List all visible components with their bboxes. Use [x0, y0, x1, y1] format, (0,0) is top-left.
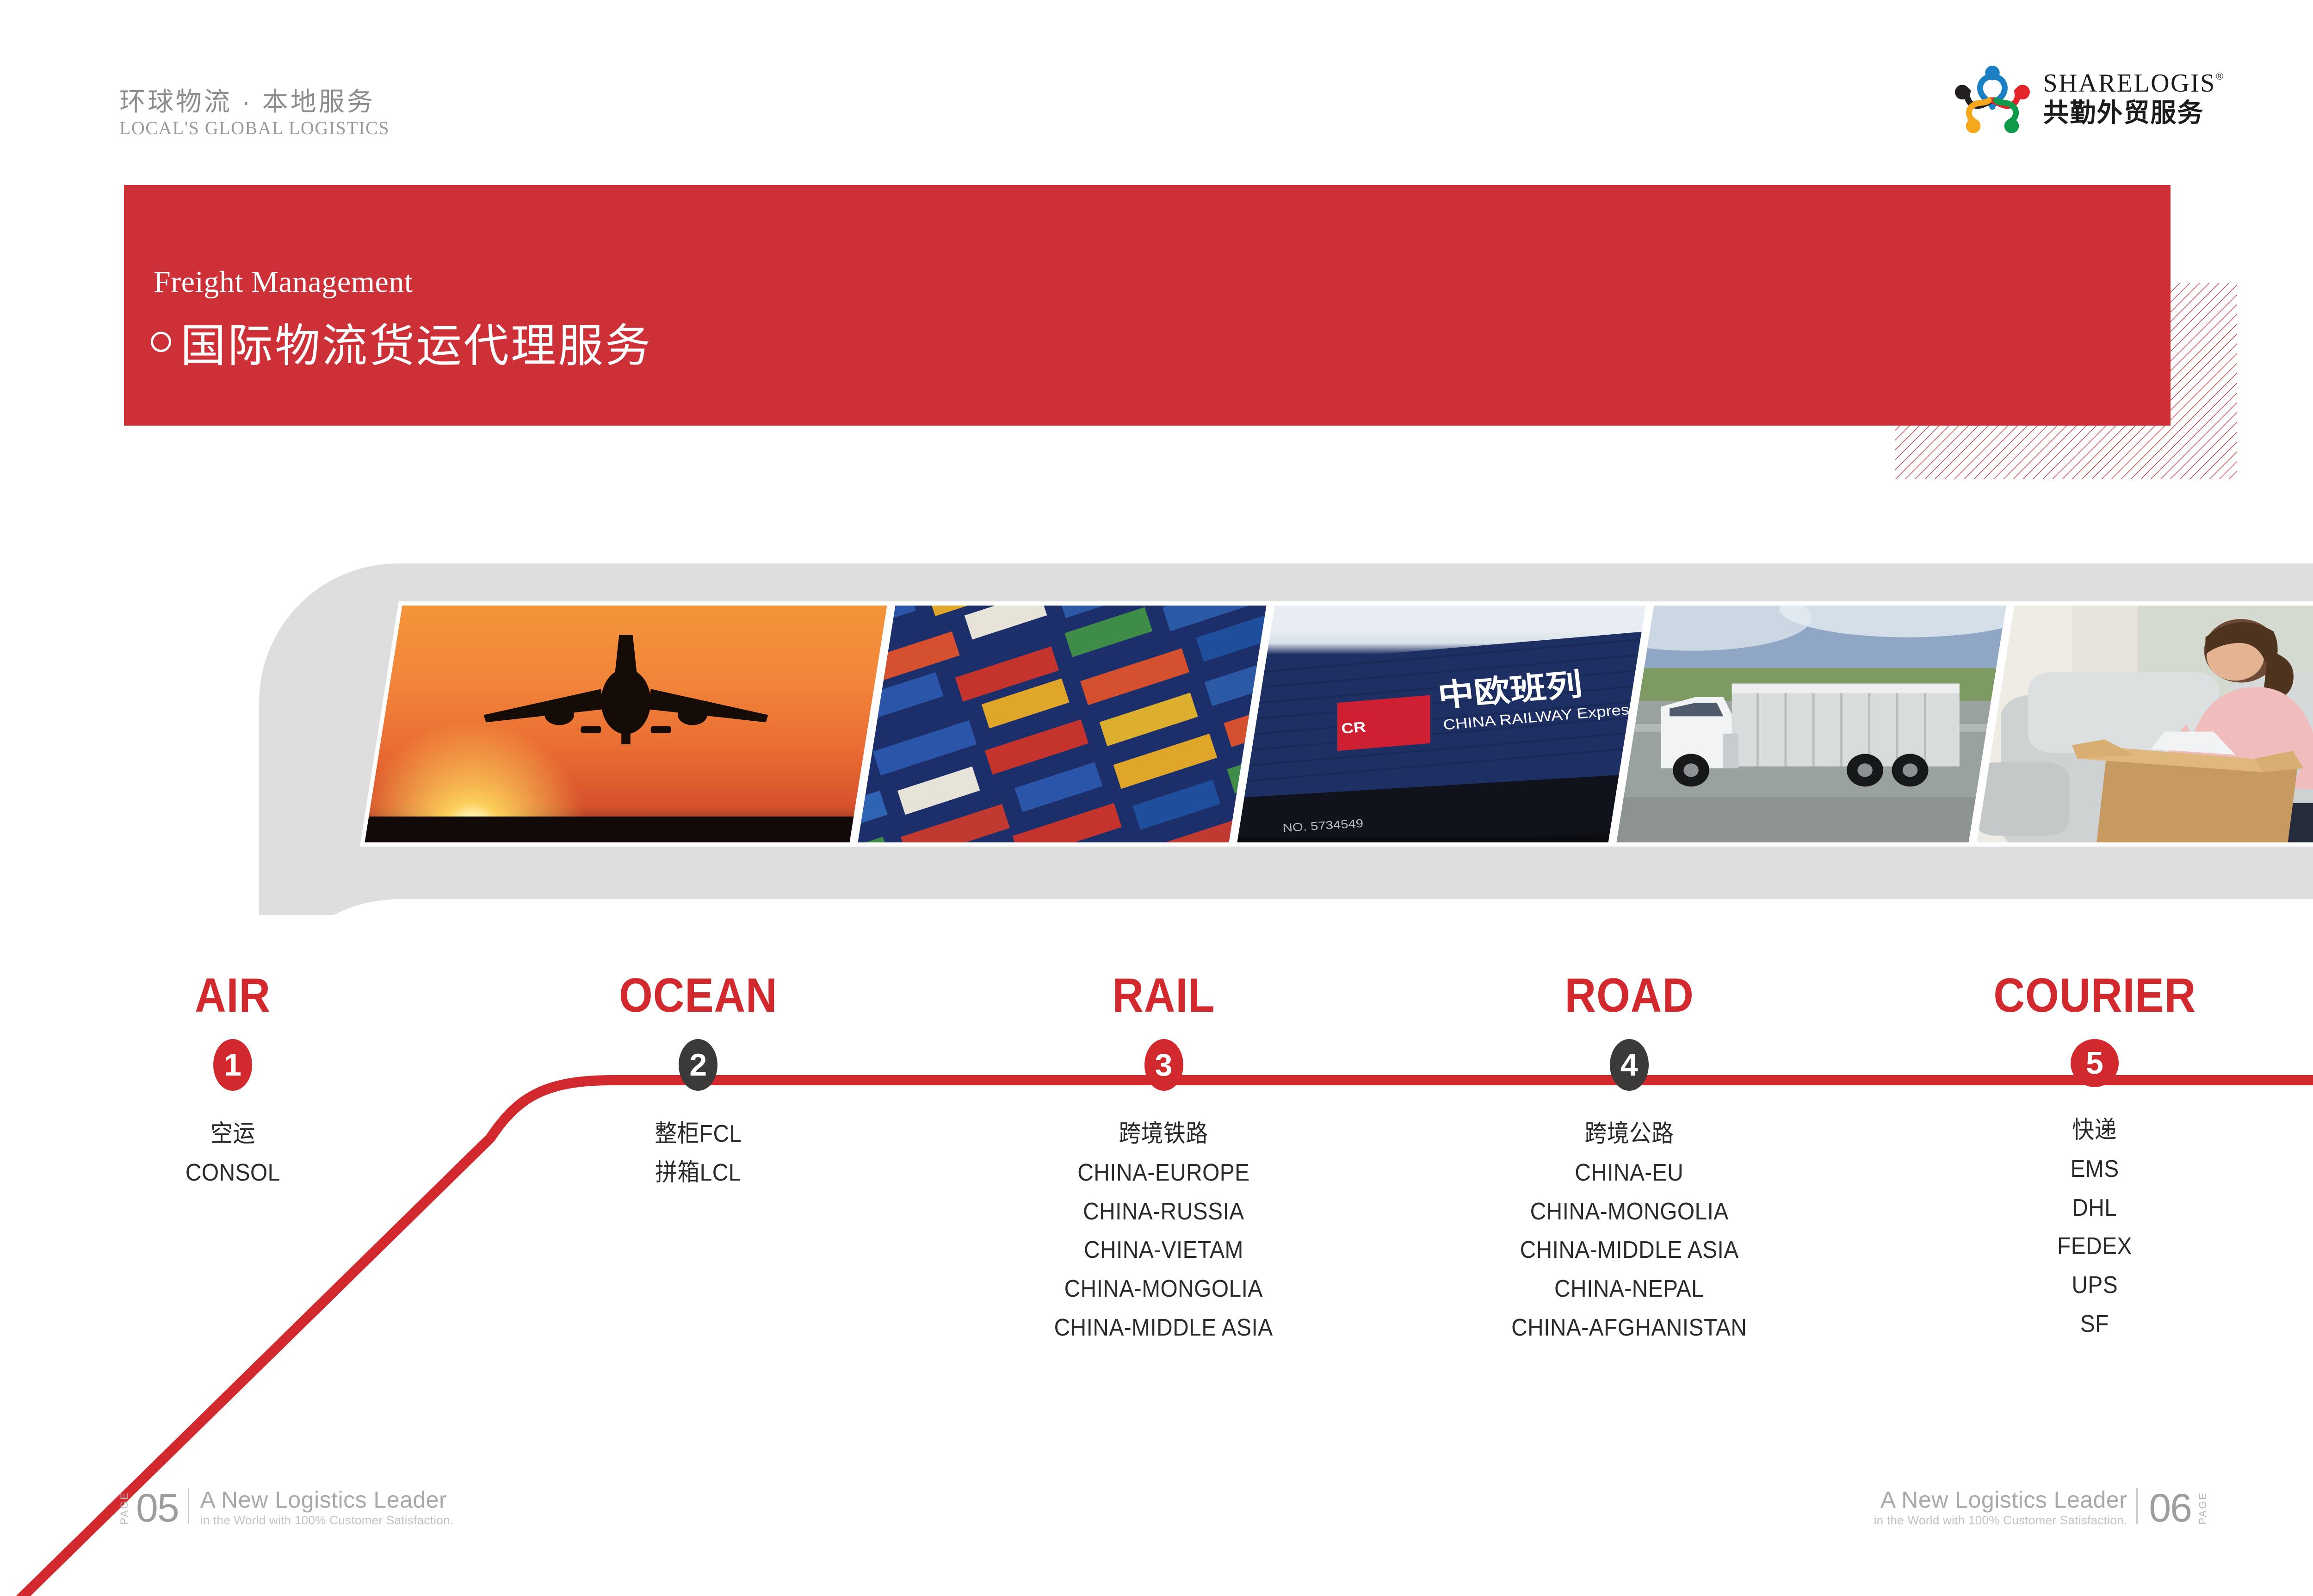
circle-bullet-icon [151, 332, 171, 352]
step-badge-3: 3 [1144, 1039, 1183, 1091]
list-item: FEDEX [2057, 1230, 2132, 1263]
logo-wordmark: SHARELOGIS® 共勤外贸服务 [2043, 70, 2225, 126]
logo-name-cn: 共勤外贸服务 [2043, 100, 2225, 126]
semi-truck-graphic [1616, 606, 2006, 842]
list-item: CHINA-AFGHANISTAN [1511, 1311, 1747, 1345]
footer-tagline-line2-right: in the World with 100% Customer Satisfac… [1874, 1514, 2127, 1527]
list-item: EMS [2070, 1153, 2119, 1186]
list-item: DHL [2072, 1192, 2117, 1225]
list-item: SF [2080, 1308, 2109, 1341]
list-item: 跨境铁路 [1119, 1118, 1208, 1151]
list-item: CHINA-MONGOLIA [1064, 1273, 1263, 1306]
svg-text:CR: CR [1341, 719, 1367, 737]
service-list-ocean: 整柜FCL 拼箱LCL [651, 1118, 746, 1190]
page-label-right: PAGE [2198, 1491, 2208, 1525]
footer-divider-right [2136, 1488, 2138, 1524]
step-badge-1: 1 [213, 1039, 252, 1091]
service-list-road: 跨境公路 CHINA-EU CHINA-MONGOLIA CHINA-MIDDL… [1501, 1118, 1757, 1345]
footer-right: A New Logistics Leader in the World with… [1874, 1488, 2208, 1527]
list-item: UPS [2072, 1269, 2118, 1302]
list-item: CHINA-RUSSIA [1083, 1195, 1244, 1229]
column-air: AIR 1 空运 CONSOL [0, 971, 465, 1434]
category-title-ocean: OCEAN [619, 971, 778, 1020]
brand-tagline-en: LOCAL'S GLOBAL LOGISTICS [119, 118, 390, 139]
ocean-freight-photo [853, 601, 1271, 847]
list-item: CHINA-MIDDLE ASIA [1520, 1234, 1738, 1267]
page-number-left: 05 [136, 1490, 179, 1527]
list-item: CONSOL [186, 1157, 280, 1190]
category-title-road: ROAD [1565, 971, 1694, 1020]
courier-photo [1972, 601, 2313, 847]
slide-footer: PAGE 05 A New Logistics Leader in the Wo… [0, 1485, 2313, 1596]
parcel-delivery-graphic [1977, 606, 2313, 842]
footer-tagline-line1-right: A New Logistics Leader [1880, 1488, 2127, 1512]
list-item: 跨境公路 [1584, 1118, 1674, 1151]
page-label-left: PAGE [119, 1491, 130, 1525]
registered-trademark-icon: ® [2216, 70, 2225, 82]
category-title-rail: RAIL [1113, 971, 1215, 1020]
footer-tagline-line1-left: A New Logistics Leader [200, 1488, 454, 1512]
sharelogis-people-icon [1950, 61, 2033, 135]
list-item: CHINA-MIDDLE ASIA [1054, 1311, 1273, 1345]
footer-tagline-left: A New Logistics Leader in the World with… [200, 1488, 454, 1527]
column-rail: RAIL 3 跨境铁路 CHINA-EUROPE CHINA-RUSSIA CH… [931, 971, 1396, 1434]
step-badge-5: 5 [2071, 1039, 2119, 1087]
airplane-silhouette-icon [474, 630, 779, 760]
container-stack-graphic [858, 606, 1266, 842]
company-logo: SHARELOGIS® 共勤外贸服务 [1950, 61, 2225, 135]
air-freight-photo [360, 601, 892, 847]
footer-tagline-right: A New Logistics Leader in the World with… [1874, 1488, 2127, 1527]
category-title-air: AIR [195, 971, 271, 1020]
road-freight-photo [1612, 601, 2011, 847]
footer-divider-left [188, 1488, 189, 1524]
freight-mode-columns: AIR 1 空运 CONSOL OCEAN 2 整柜FCL 拼箱LCL RAIL… [0, 971, 2313, 1434]
category-title-courier: COURIER [1993, 971, 2196, 1020]
mode-photo-strip: CR 中欧班列 CHINA RAILWAY Express NO. 573454… [379, 601, 2276, 847]
list-item: CHINA-MONGOLIA [1530, 1195, 1728, 1229]
rail-freight-photo: CR 中欧班列 CHINA RAILWAY Express NO. 573454… [1232, 601, 1651, 847]
logo-name-en: SHARELOGIS® [2043, 70, 2225, 96]
banner-kicker: Freight Management [154, 265, 413, 300]
list-item: CHINA-VIETAM [1084, 1234, 1243, 1267]
column-road: ROAD 4 跨境公路 CHINA-EU CHINA-MONGOLIA CHIN… [1397, 971, 1862, 1434]
service-list-courier: 快递 EMS DHL FEDEX UPS SF [2054, 1114, 2135, 1341]
step-badge-2: 2 [679, 1039, 717, 1091]
slide-canvas: 环球物流 · 本地服务 LOCAL'S GLOBAL LOGISTICS SHA… [0, 0, 2313, 1596]
brand-lockup: 环球物流 · 本地服务 LOCAL'S GLOBAL LOGISTICS [119, 87, 390, 139]
list-item: CHINA-NEPAL [1554, 1273, 1704, 1306]
list-item: CHINA-EUROPE [1077, 1157, 1249, 1190]
list-item: 空运 [210, 1118, 255, 1151]
column-ocean: OCEAN 2 整柜FCL 拼箱LCL [465, 971, 931, 1434]
list-item: CHINA-EU [1575, 1157, 1683, 1190]
footer-tagline-line2-left: in the World with 100% Customer Satisfac… [200, 1514, 454, 1527]
list-item: 拼箱LCL [655, 1157, 741, 1190]
list-item: 整柜FCL [655, 1118, 742, 1151]
page-number-right: 06 [2149, 1490, 2191, 1527]
page-title: 国际物流货运代理服务 [151, 309, 652, 375]
brand-tagline-cn: 环球物流 · 本地服务 [119, 87, 390, 117]
step-badge-4: 4 [1610, 1039, 1649, 1091]
footer-left: PAGE 05 A New Logistics Leader in the Wo… [119, 1488, 453, 1527]
service-list-air: 空运 CONSOL [181, 1118, 284, 1190]
rail-container-graphic: CR 中欧班列 CHINA RAILWAY Express NO. 573454… [1237, 606, 1645, 842]
column-courier: COURIER 5 快递 EMS DHL FEDEX UPS SF [1862, 971, 2313, 1434]
list-item: 快递 [2072, 1114, 2117, 1147]
section-title-banner: Freight Management 国际物流货运代理服务 [124, 185, 2171, 426]
service-list-rail: 跨境铁路 CHINA-EUROPE CHINA-RUSSIA CHINA-VIE… [1045, 1118, 1282, 1345]
